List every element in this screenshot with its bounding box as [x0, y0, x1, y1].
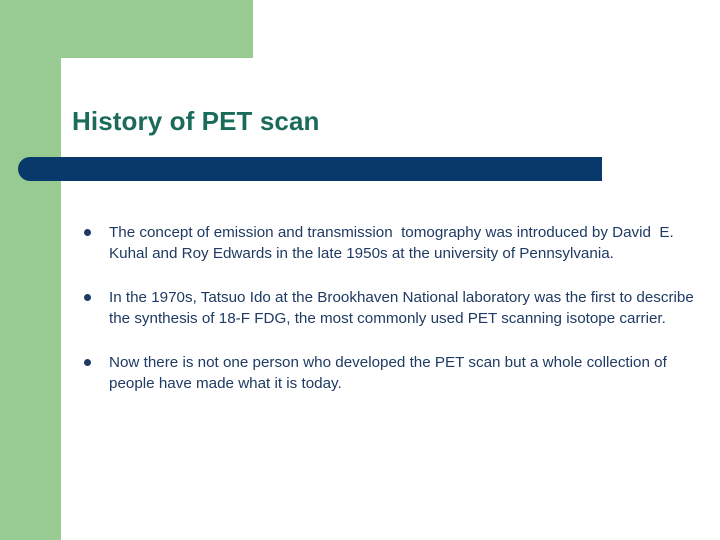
green-top-band: [0, 0, 253, 58]
list-item: The concept of emission and transmission…: [80, 222, 694, 265]
disc-bullet-icon: [84, 294, 91, 301]
title-underline-bar: [18, 157, 602, 181]
disc-bullet-icon: [84, 359, 91, 366]
green-side-band: [0, 0, 61, 540]
disc-bullet-icon: [84, 229, 91, 236]
list-item-text: In the 1970s, Tatsuo Ido at the Brookhav…: [109, 287, 694, 330]
list-item: In the 1970s, Tatsuo Ido at the Brookhav…: [80, 287, 694, 330]
list-item-text: Now there is not one person who develope…: [109, 352, 694, 395]
slide-canvas: History of PET scan The concept of emiss…: [0, 0, 720, 540]
page-title: History of PET scan: [72, 105, 652, 137]
list-item: Now there is not one person who develope…: [80, 352, 694, 395]
bullet-list: The concept of emission and transmission…: [80, 222, 694, 394]
list-item-text: The concept of emission and transmission…: [109, 222, 694, 265]
